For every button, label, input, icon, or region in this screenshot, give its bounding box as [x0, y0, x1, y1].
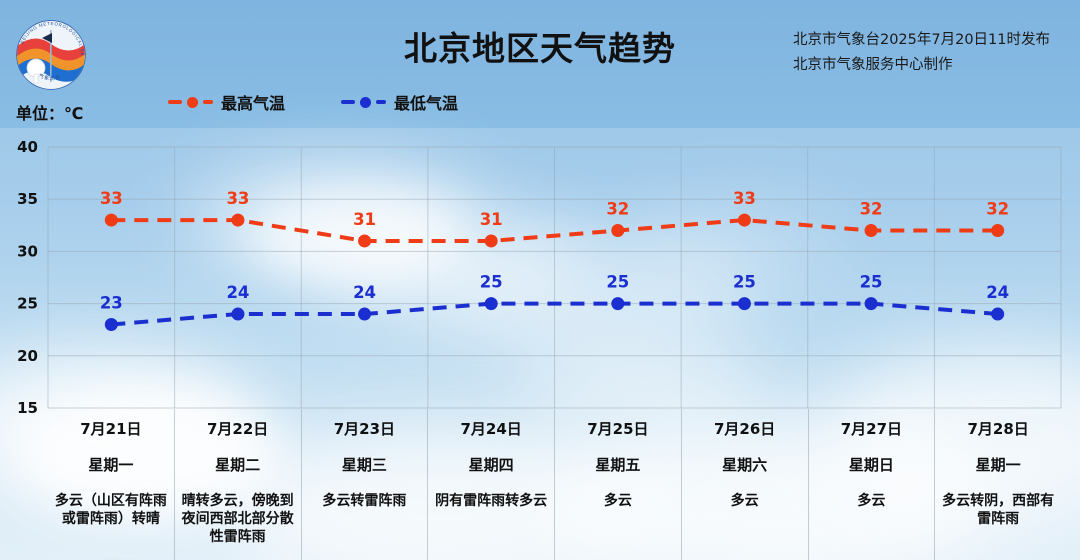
legend-dot-icon	[187, 97, 198, 108]
data-point-value-label: 25	[606, 273, 629, 292]
data-point-value-label: 25	[860, 273, 883, 292]
data-point[interactable]	[738, 297, 751, 310]
legend-label-high: 最高气温	[221, 90, 285, 114]
data-point-value-label: 23	[100, 293, 123, 312]
day-weather-description: 多云	[682, 492, 808, 510]
day-date: 7月21日	[48, 421, 174, 438]
day-weather-description: 多云	[809, 492, 935, 510]
header: BEIJING METEOROLOGICAL SERVICE 气象北京 北京地区…	[0, 0, 1080, 128]
day-weekday: 星期一	[48, 454, 174, 475]
day-weather-description: 多云转雷阵雨	[302, 492, 428, 510]
data-point-value-label: 33	[100, 189, 123, 208]
issue-line-1: 北京市气象台2025年7月20日11时发布	[793, 28, 1050, 53]
day-weather-description: 多云（山区有阵雨或雷阵雨）转晴	[48, 492, 174, 529]
data-point[interactable]	[231, 214, 244, 227]
day-column[interactable]: 7月27日星期日多云	[808, 409, 935, 560]
data-point-value-label: 33	[226, 189, 249, 208]
day-column[interactable]: 7月25日星期五多云	[554, 409, 681, 560]
day-date: 7月26日	[682, 421, 808, 438]
day-weekday: 星期三	[302, 454, 428, 475]
legend-dash-icon	[203, 100, 213, 104]
issue-line-2: 北京市气象服务中心制作	[793, 53, 1050, 78]
legend-dash-icon	[341, 100, 355, 104]
data-point-value-label: 32	[860, 200, 883, 219]
data-point-value-label: 33	[733, 189, 756, 208]
day-columns: 7月21日星期一多云（山区有阵雨或雷阵雨）转晴7月22日星期二晴转多云，傍晚到夜…	[48, 409, 1061, 560]
day-date: 7月22日	[175, 421, 301, 438]
data-point[interactable]	[865, 224, 878, 237]
y-axis-tick-label: 40	[17, 138, 38, 156]
data-point[interactable]	[738, 214, 751, 227]
data-point[interactable]	[105, 214, 118, 227]
chart-legend: 最高气温 最低气温	[168, 90, 458, 114]
day-column[interactable]: 7月26日星期六多云	[681, 409, 808, 560]
day-weather-description: 多云转阴，西部有雷阵雨	[935, 492, 1061, 529]
day-weekday: 星期五	[555, 454, 681, 475]
data-point-value-label: 25	[733, 273, 756, 292]
day-column[interactable]: 7月23日星期三多云转雷阵雨	[301, 409, 428, 560]
legend-item-high: 最高气温	[168, 90, 285, 114]
y-axis-tick-label: 25	[17, 295, 38, 313]
y-axis-tick-label: 20	[17, 347, 38, 365]
day-column[interactable]: 7月28日星期一多云转阴，西部有雷阵雨	[934, 409, 1061, 560]
unit-label: 单位：℃	[16, 100, 83, 124]
chart-gridlines	[48, 147, 1061, 408]
data-point-value-label: 31	[353, 210, 376, 229]
legend-item-low: 最低气温	[341, 90, 458, 114]
day-weekday: 星期日	[809, 454, 935, 475]
legend-dash-icon	[168, 100, 182, 104]
data-point[interactable]	[865, 297, 878, 310]
y-axis-tick-label: 35	[17, 190, 38, 208]
day-date: 7月25日	[555, 421, 681, 438]
chart-y-axis: 152025303540	[17, 138, 38, 417]
data-point-value-label: 24	[226, 283, 249, 302]
data-point-value-label: 31	[480, 210, 503, 229]
data-point[interactable]	[231, 308, 244, 321]
day-date: 7月24日	[428, 421, 554, 438]
data-point[interactable]	[358, 308, 371, 321]
day-column[interactable]: 7月24日星期四阴有雷阵雨转多云	[427, 409, 554, 560]
data-point-value-label: 24	[353, 283, 376, 302]
day-date: 7月23日	[302, 421, 428, 438]
data-point[interactable]	[611, 224, 624, 237]
data-point[interactable]	[611, 297, 624, 310]
legend-dash-icon	[376, 100, 386, 104]
day-weekday: 星期二	[175, 454, 301, 475]
legend-dot-icon	[360, 97, 371, 108]
day-date: 7月28日	[935, 421, 1061, 438]
data-point[interactable]	[105, 318, 118, 331]
data-point-value-label: 32	[606, 200, 629, 219]
data-point[interactable]	[991, 308, 1004, 321]
data-point[interactable]	[485, 297, 498, 310]
day-column[interactable]: 7月21日星期一多云（山区有阵雨或雷阵雨）转晴	[48, 409, 174, 560]
day-date: 7月27日	[809, 421, 935, 438]
data-point-value-label: 25	[480, 273, 503, 292]
issue-info: 北京市气象台2025年7月20日11时发布 北京市气象服务中心制作	[793, 28, 1050, 79]
day-weather-description: 多云	[555, 492, 681, 510]
data-point[interactable]	[991, 224, 1004, 237]
data-point-value-label: 24	[986, 283, 1009, 302]
day-weather-description: 晴转多云，傍晚到夜间西部北部分散性雷阵雨	[175, 492, 301, 547]
y-axis-tick-label: 15	[17, 399, 38, 417]
day-weekday: 星期六	[682, 454, 808, 475]
data-point-value-label: 32	[986, 200, 1009, 219]
day-weather-description: 阴有雷阵雨转多云	[428, 492, 554, 510]
data-point[interactable]	[485, 234, 498, 247]
legend-label-low: 最低气温	[394, 90, 458, 114]
day-weekday: 星期四	[428, 454, 554, 475]
day-weekday: 星期一	[935, 454, 1061, 475]
data-point[interactable]	[358, 234, 371, 247]
y-axis-tick-label: 30	[17, 242, 38, 260]
day-column[interactable]: 7月22日星期二晴转多云，傍晚到夜间西部北部分散性雷阵雨	[174, 409, 301, 560]
